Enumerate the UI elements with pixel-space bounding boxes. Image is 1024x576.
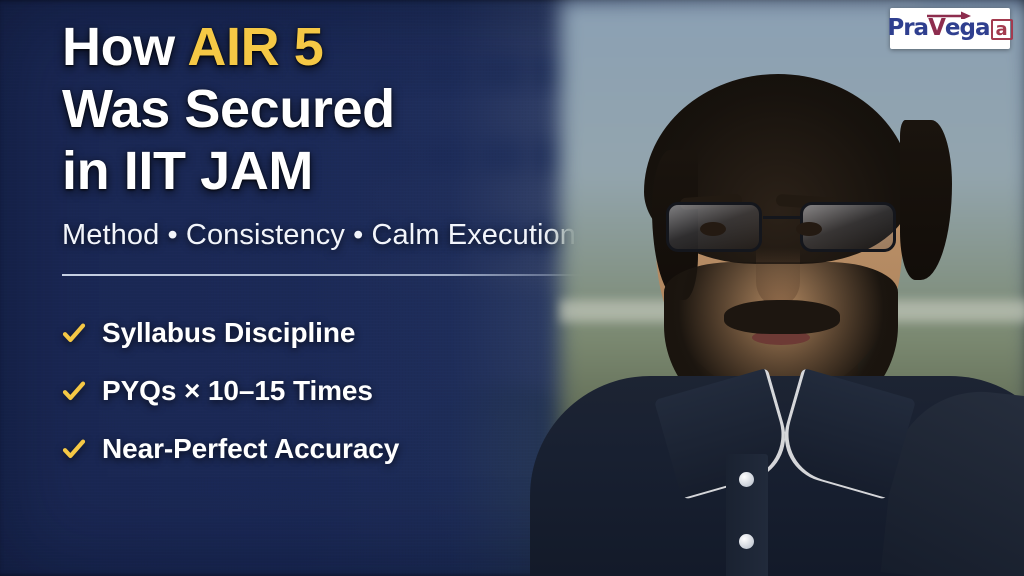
glasses-bridge <box>763 216 801 219</box>
check-icon <box>62 437 86 461</box>
shirt-button <box>739 472 754 487</box>
logo-text-ega: ega <box>945 17 990 40</box>
collar-right <box>774 368 916 500</box>
shirt-button <box>739 534 754 549</box>
eye-left <box>700 222 726 236</box>
polo-shirt <box>530 376 1024 576</box>
logo-text-pra: Pra <box>887 17 928 40</box>
presenter-photo <box>560 0 1024 576</box>
video-thumbnail: How AIR 5 Was Secured in IIT JAM Method … <box>0 0 1024 576</box>
shirt-collar <box>680 382 890 490</box>
check-icon <box>62 379 86 403</box>
logo-inner: PraVegaa <box>887 17 1012 40</box>
logo-text-v: V <box>928 17 945 40</box>
bullet-label: Syllabus Discipline <box>102 317 355 349</box>
bullet-label: PYQs × 10–15 Times <box>102 375 373 407</box>
pravega-logo[interactable]: PraVegaa <box>890 8 1010 49</box>
check-icon <box>62 321 86 345</box>
headline-line-1-prefix: How <box>62 17 187 77</box>
collar-left <box>654 368 796 500</box>
logo-badge-a: a <box>991 19 1013 40</box>
headline-highlight-air5: AIR 5 <box>187 17 323 77</box>
mustache <box>724 300 840 334</box>
arrow-icon <box>927 10 973 19</box>
bullet-label: Near-Perfect Accuracy <box>102 433 399 465</box>
eye-right <box>796 222 822 236</box>
